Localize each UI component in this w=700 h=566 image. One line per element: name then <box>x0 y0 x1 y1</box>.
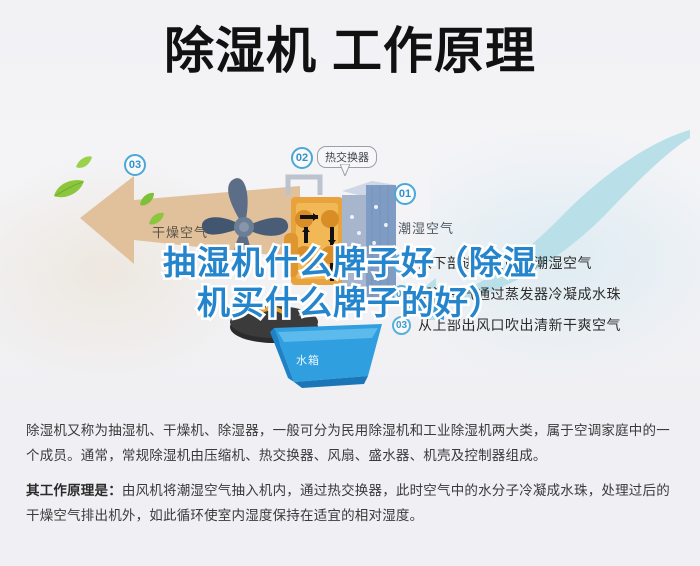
legend-badge-03: 03 <box>392 316 411 335</box>
water-tank-label: 水箱 <box>296 352 320 368</box>
leaf-icon <box>148 212 165 226</box>
article-paragraph-2: 其工作原理是：由风机将潮湿空气抽入机内，通过热交换器，此时空气中的水分子冷凝成水… <box>26 478 676 528</box>
legend-badge-02: 02 <box>392 285 411 304</box>
legend-badge-01: 01 <box>392 254 411 273</box>
legend-text-03: 从上部出风口吹出清新干爽空气 <box>418 315 621 335</box>
legend-item: 01 从下部进风口吸入潮湿空气 <box>392 252 692 274</box>
water-tank-icon <box>268 322 388 394</box>
legend-text-01: 从下部进风口吸入潮湿空气 <box>418 253 592 273</box>
callout-badge-03: 03 <box>124 154 146 176</box>
legend-item: 02 潮湿空气通过蒸发器冷凝成水珠 <box>392 283 692 305</box>
legend-list: 01 从下部进风口吸入潮湿空气 02 潮湿空气通过蒸发器冷凝成水珠 03 从上部… <box>392 252 692 345</box>
article-paragraph-1: 除湿机又称为抽湿机、干燥机、除湿器，一般可分为民用除湿机和工业除湿机两大类，属于… <box>26 418 676 468</box>
legend-text-02: 潮湿空气通过蒸发器冷凝成水珠 <box>418 284 621 304</box>
legend-item: 03 从上部出风口吹出清新干爽空气 <box>392 314 692 336</box>
leaf-icon <box>138 192 156 207</box>
callout-badge-01: 01 <box>394 183 416 205</box>
heat-exchanger-icon <box>342 181 396 307</box>
article-paragraph-2-rest: 由风机将潮湿空气抽入机内，通过热交换器，此时空气中的水分子冷凝成水珠，处理过后的… <box>26 483 670 523</box>
article-paragraph-2-lead: 其工作原理是： <box>26 483 122 498</box>
leaf-icon <box>52 178 86 200</box>
page-root: 除湿机 工作原理 干燥空气 <box>0 0 700 566</box>
compressor-coils-icon <box>284 177 343 285</box>
leaf-icon <box>75 156 93 170</box>
article-body: 除湿机又称为抽湿机、干燥机、除湿器，一般可分为民用除湿机和工业除湿机两大类，属于… <box>26 418 676 538</box>
diagram-title: 除湿机 工作原理 <box>0 22 700 80</box>
callout-badge-02: 02 <box>291 147 313 169</box>
diagram-image: 除湿机 工作原理 干燥空气 <box>0 0 700 404</box>
fan-icon <box>202 178 288 273</box>
callout-pointer-icon <box>340 164 350 176</box>
moist-air-label: 潮湿空气 <box>398 218 454 237</box>
